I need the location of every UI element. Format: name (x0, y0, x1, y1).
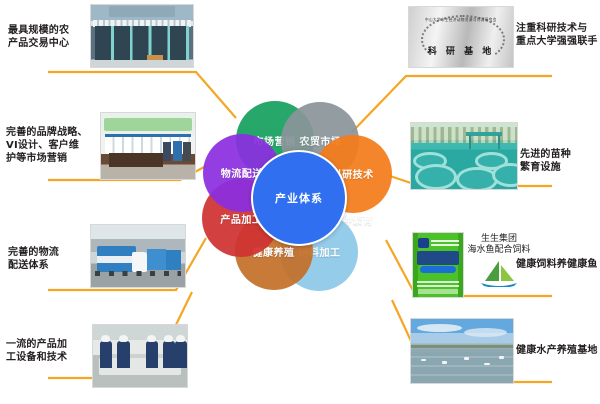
delivery-trucks-photo (90, 224, 186, 288)
caption-logistics-system: 完善的物流配送体系 (8, 246, 88, 272)
feed-brand-line1: 生生集团 (466, 234, 532, 245)
aquaculture-base-photo (410, 318, 514, 384)
hatchery-tanks-photo (410, 122, 518, 190)
caption-processing-tech: 一流的产品加工设备和技术 (6, 338, 90, 364)
diagram-core[interactable]: 产业体系 (251, 150, 347, 246)
feed-brand-line2: 海水鱼配合饲料 (466, 245, 532, 256)
core-label: 产业体系 (275, 190, 323, 206)
supermarket-interior-photo (100, 112, 196, 180)
research-base-plaque: 中山大学水生经济动物资源与利用研究会 科 研 基 地 (408, 6, 514, 68)
caption-trade-center: 最具规模的农产品交易中心 (8, 24, 88, 50)
processing-plant-photo (92, 324, 188, 388)
caption-research-base: 注重科研技术与重点大学强强联手 (516, 22, 600, 48)
caption-aquaculture-base: 健康水产养殖基地 (516, 344, 600, 357)
caption-brand-strategy: 完善的品牌战略、VI设计、客户维护等市场营销 (6, 126, 98, 166)
plaque-arc-text: 中山大学水生经济动物资源与利用研究会 (409, 16, 513, 22)
caption-healthy-feed: 健康饲料养健康鱼 (516, 258, 600, 271)
caption-breeding-facility: 先进的苗种繁育设施 (520, 148, 600, 174)
sailboat-icon (478, 259, 520, 287)
infographic-canvas: 最具规模的农产品交易中心 完善的品牌战略、VI设计、客户维护等市场营销 完善的物… (0, 0, 600, 404)
feed-bag-photo (412, 232, 464, 298)
plaque-main-text: 科 研 基 地 (409, 44, 513, 57)
market-building-photo (90, 4, 194, 68)
